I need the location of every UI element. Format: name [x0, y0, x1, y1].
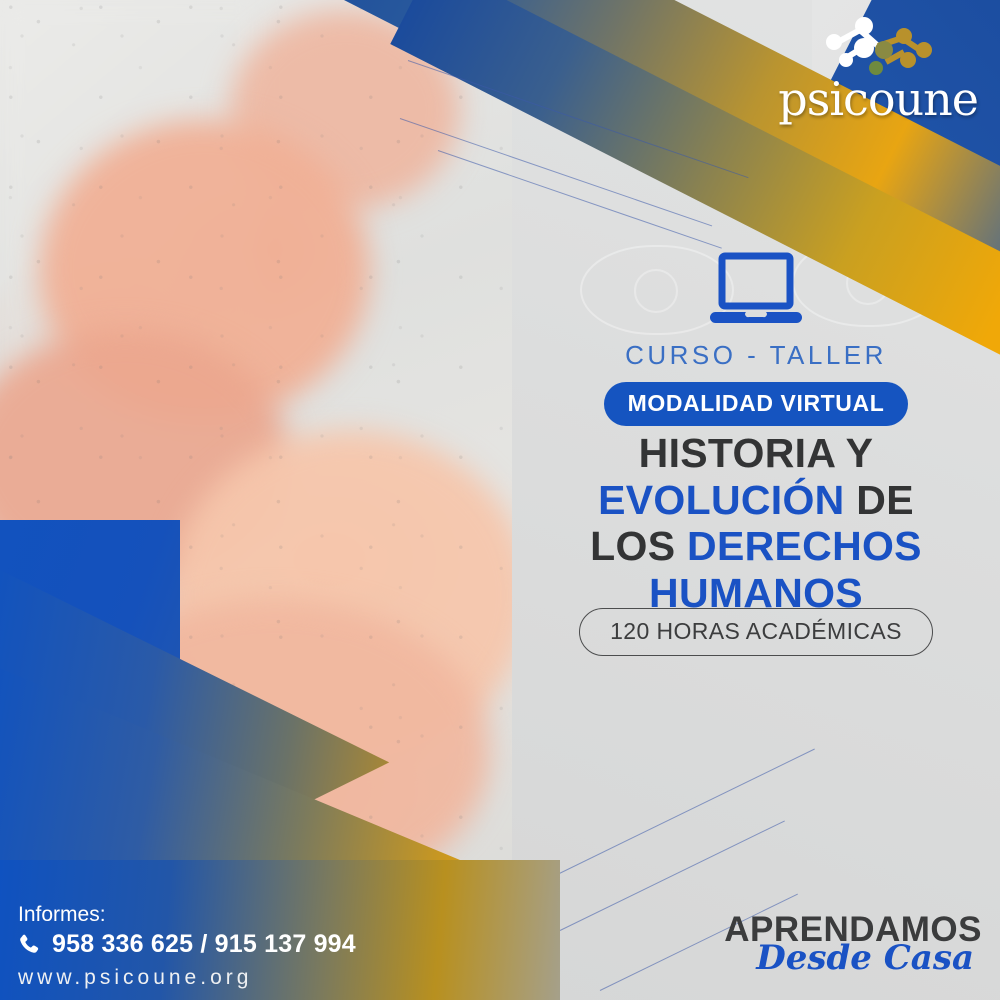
modality-badge-wrap: MODALIDAD VIRTUAL	[512, 382, 1000, 426]
title-line-2: EVOLUCIÓN DE	[512, 477, 1000, 524]
promo-poster: psicoune CURSO - TALLER MODALIDAD VIRTUA…	[0, 0, 1000, 1000]
eyebrow-label: CURSO - TALLER	[512, 340, 1000, 371]
modality-badge: MODALIDAD VIRTUAL	[604, 382, 909, 426]
website-url[interactable]: www.psicoune.org	[18, 966, 252, 990]
title-word-de: DE	[856, 477, 914, 523]
slogan: APRENDAMOS Desde Casa	[724, 912, 982, 975]
title-line-1: HISTORIA Y	[512, 430, 1000, 477]
phone-icon	[16, 932, 42, 958]
title-line-3: LOS DERECHOS	[512, 523, 1000, 570]
phone-numbers: 958 336 625 / 915 137 994	[52, 930, 356, 959]
laptop-icon-wrap	[512, 252, 1000, 328]
hours-pill: 120 HORAS ACADÉMICAS	[579, 608, 933, 656]
title-word-derechos: DERECHOS	[687, 523, 922, 569]
title-word-los: LOS	[590, 523, 675, 569]
slogan-bottom: Desde Casa	[724, 941, 974, 975]
course-info: CURSO - TALLER MODALIDAD VIRTUAL HISTORI…	[512, 0, 1000, 1000]
informes-label: Informes:	[18, 903, 106, 927]
course-title: HISTORIA Y EVOLUCIÓN DE LOS DERECHOS HUM…	[512, 430, 1000, 617]
phone-row[interactable]: 958 336 625 / 915 137 994	[16, 930, 356, 959]
laptop-icon	[708, 252, 804, 328]
hours-pill-wrap: 120 HORAS ACADÉMICAS	[512, 608, 1000, 656]
title-word-evolucion: EVOLUCIÓN	[598, 477, 844, 523]
